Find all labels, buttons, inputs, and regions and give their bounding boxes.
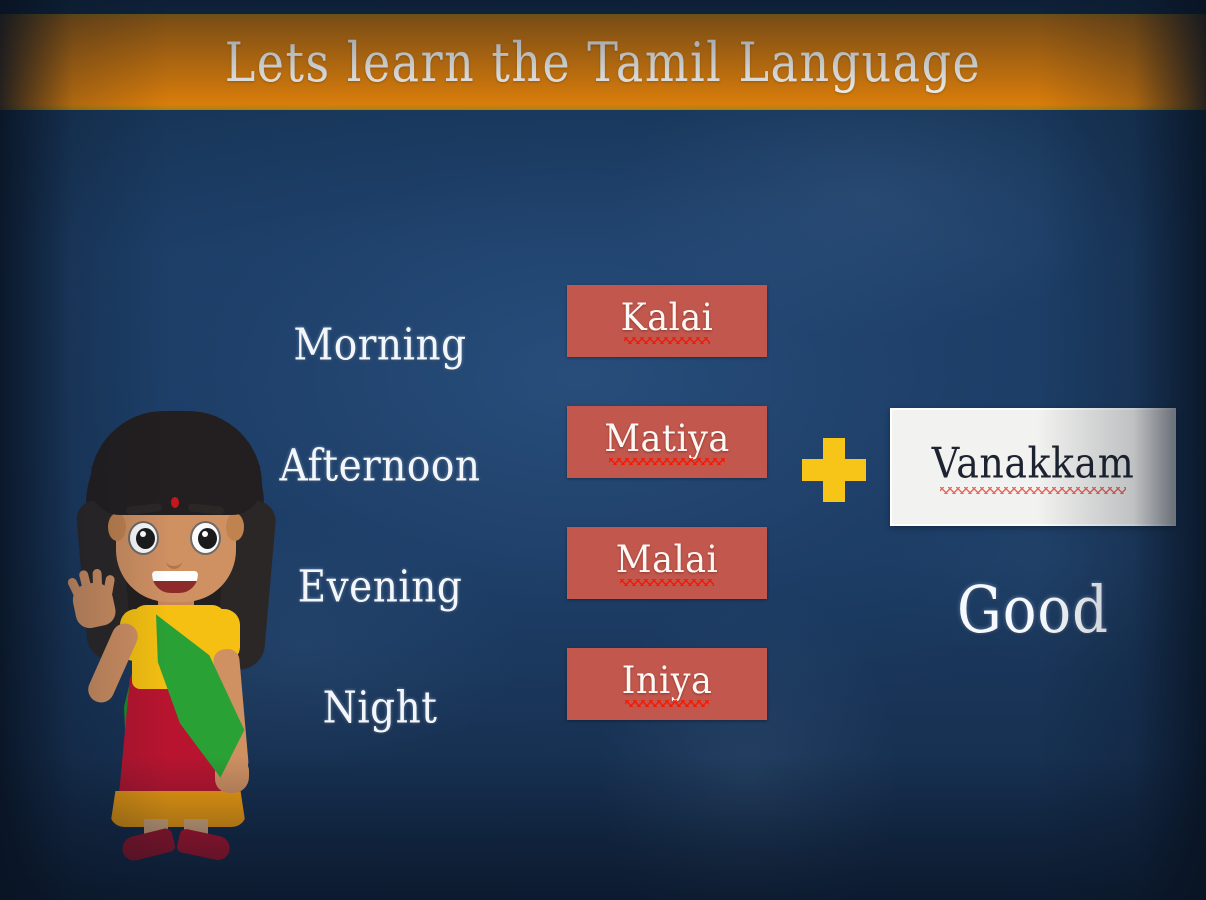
tamil-word-wrap-malai: Malai — [616, 540, 718, 586]
spellcheck-underline-icon — [940, 487, 1126, 494]
tamil-word-kalai: Kalai — [621, 296, 714, 339]
english-label-morning: Morning — [293, 320, 466, 370]
tamil-word-wrap-iniya: Iniya — [622, 661, 713, 707]
label-row-morning: Morning — [240, 285, 520, 406]
tamil-word-column: Kalai Matiya Malai — [567, 285, 767, 769]
box-row-malai: Malai — [567, 527, 767, 648]
greeting-meaning-good: Good — [957, 573, 1109, 648]
box-row-matiya: Matiya — [567, 406, 767, 527]
greeting-word-wrap: Vanakkam — [932, 441, 1134, 494]
pupil-left — [136, 528, 155, 549]
teeth — [152, 571, 198, 581]
ear-left — [108, 513, 126, 541]
english-label-night: Night — [323, 683, 438, 733]
skirt-hem — [110, 791, 246, 827]
tamil-word-iniya: Iniya — [622, 659, 713, 702]
shoe-right — [176, 828, 232, 862]
tamil-word-box-kalai: Kalai — [567, 285, 767, 357]
nose — [166, 553, 182, 569]
title-band: Lets learn the Tamil Language — [0, 14, 1206, 110]
slide-canvas: Lets learn the Tamil Language Morning Af… — [0, 0, 1206, 900]
spellcheck-underline-icon — [625, 700, 708, 707]
tamil-word-wrap-matiya: Matiya — [604, 419, 730, 465]
plus-icon-bar-vertical — [823, 438, 845, 502]
pupil-right — [198, 528, 217, 549]
tamil-word-box-matiya: Matiya — [567, 406, 767, 478]
tamil-word-matiya: Matiya — [604, 417, 730, 460]
spellcheck-underline-icon — [620, 579, 714, 586]
greeting-meaning-container: Good — [890, 578, 1176, 643]
greeting-card: Vanakkam — [890, 408, 1176, 526]
bindi-icon — [171, 497, 179, 508]
tamil-word-malai: Malai — [616, 538, 718, 581]
english-label-evening: Evening — [298, 562, 463, 612]
tamil-girl-illustration — [60, 405, 290, 860]
spellcheck-underline-icon — [609, 458, 725, 465]
eye-glint-right — [202, 531, 208, 537]
greeting-word-vanakkam: Vanakkam — [932, 438, 1134, 486]
eye-glint-left — [140, 531, 146, 537]
box-row-iniya: Iniya — [567, 648, 767, 769]
box-row-kalai: Kalai — [567, 285, 767, 406]
spellcheck-underline-icon — [624, 337, 709, 344]
tamil-word-box-iniya: Iniya — [567, 648, 767, 720]
tamil-word-wrap-kalai: Kalai — [621, 298, 714, 344]
shoe-left — [120, 827, 176, 863]
tamil-word-box-malai: Malai — [567, 527, 767, 599]
english-label-afternoon: Afternoon — [279, 441, 480, 491]
ear-right — [226, 513, 244, 541]
page-title: Lets learn the Tamil Language — [225, 30, 982, 94]
plus-icon — [802, 438, 866, 502]
